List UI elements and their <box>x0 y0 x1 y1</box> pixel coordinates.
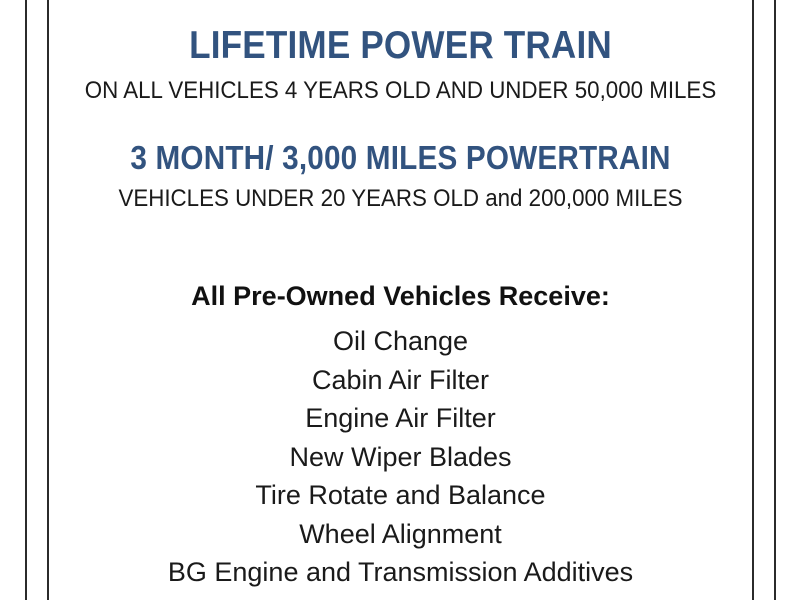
list-spacer <box>49 211 752 283</box>
list-item: New Wiper Blades <box>49 438 752 477</box>
border-rule-left-outer <box>25 0 27 600</box>
offer-block-lifetime-powertrain: LIFETIME POWER TRAIN ON ALL VEHICLES 4 Y… <box>49 0 752 103</box>
flyer-content: LIFETIME POWER TRAIN ON ALL VEHICLES 4 Y… <box>49 0 752 600</box>
headline-spacer <box>49 103 752 141</box>
offer-subline-lifetime-powertrain: ON ALL VEHICLES 4 YEARS OLD AND UNDER 50… <box>74 65 728 103</box>
list-item: Cabin Air Filter <box>49 361 752 400</box>
border-rule-right-inner <box>752 0 754 600</box>
offer-headline-lifetime-powertrain: LIFETIME POWER TRAIN <box>84 0 717 65</box>
offer-headline-3month-powertrain: 3 MONTH/ 3,000 MILES POWERTRAIN <box>84 141 717 174</box>
list-item: BG Engine and Transmission Additives <box>49 553 752 592</box>
services-heading: All Pre-Owned Vehicles Receive: <box>49 283 752 310</box>
warranty-services-flyer: LIFETIME POWER TRAIN ON ALL VEHICLES 4 Y… <box>0 0 800 600</box>
offer-subline-3month-powertrain: VEHICLES UNDER 20 YEARS OLD and 200,000 … <box>74 174 728 211</box>
list-item: Oil Change <box>49 322 752 361</box>
services-list: Oil Change Cabin Air Filter Engine Air F… <box>49 322 752 592</box>
border-rule-right-outer <box>774 0 776 600</box>
offer-block-3month-powertrain: 3 MONTH/ 3,000 MILES POWERTRAIN VEHICLES… <box>49 141 752 211</box>
list-item: Engine Air Filter <box>49 399 752 438</box>
list-item: Wheel Alignment <box>49 515 752 554</box>
list-item: Tire Rotate and Balance <box>49 476 752 515</box>
